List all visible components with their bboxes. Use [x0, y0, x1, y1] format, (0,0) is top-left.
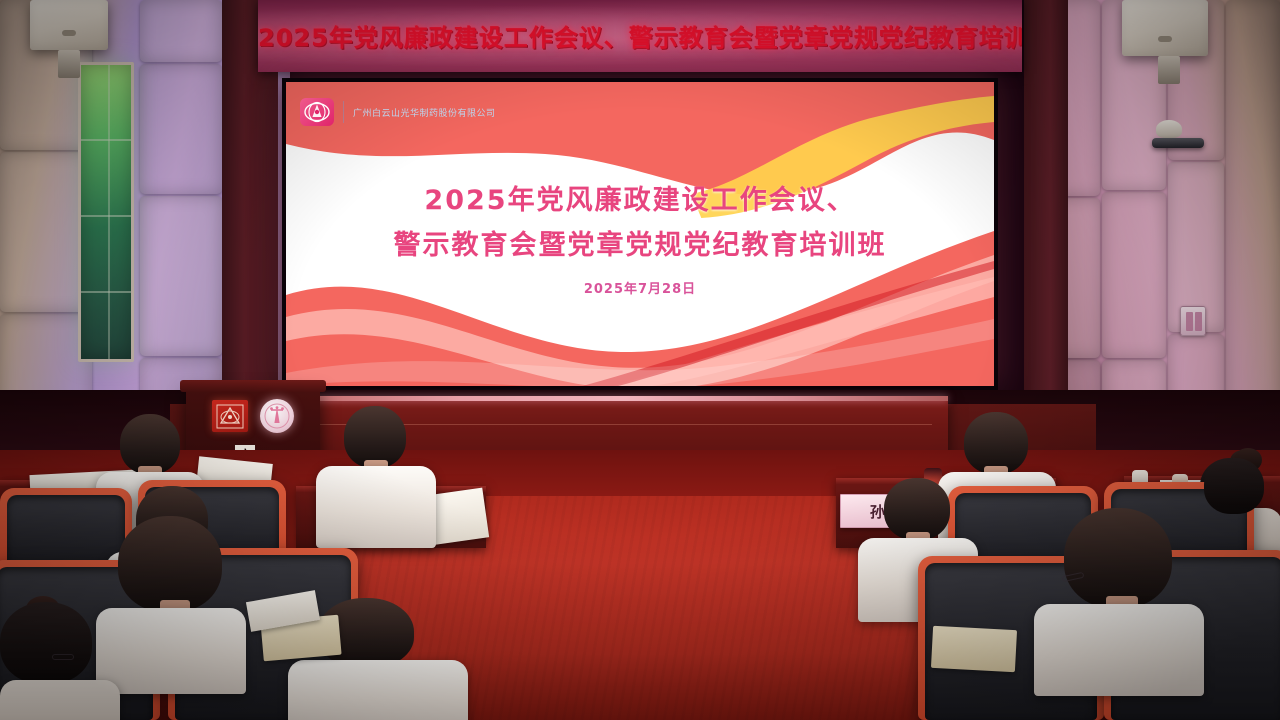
camera-mount	[1152, 138, 1204, 148]
party-emblem-icon	[260, 399, 294, 433]
speaker-mount-left	[58, 50, 80, 78]
company-name-text: 广州白云山光华制药股份有限公司	[353, 106, 496, 119]
logo-divider	[343, 101, 344, 123]
company-emblem-icon	[212, 400, 248, 432]
slide-logo-lockup: 广州白云山光华制药股份有限公司	[300, 98, 496, 126]
attendee-front-center-1	[316, 406, 436, 536]
glasses-icon	[52, 654, 74, 660]
light-switch[interactable]	[1180, 306, 1206, 336]
slide-title-line-2: 警示教育会暨党章党规党纪教育培训班	[286, 223, 994, 268]
led-banner: 2025年党风廉政建设工作会议、警示教育会暨党章党规党纪教育培训班	[258, 0, 1022, 72]
podium-top	[180, 380, 326, 392]
attendee-row3-far-left	[0, 596, 120, 720]
banner-text: 2025年党风廉政建设工作会议、警示教育会暨党章党规党纪教育培训班	[258, 18, 1022, 53]
slide-title-line-1: 2025年党风廉政建设工作会议、	[286, 178, 994, 223]
right-corner-shadow	[1024, 0, 1068, 430]
projection-screen-frame: 广州白云山光华制药股份有限公司 2025年党风廉政建设工作会议、 警示教育会暨党…	[282, 78, 998, 390]
conference-hall-photo: 2025年党风廉政建设工作会议、警示教育会暨党章党规党纪教育培训班	[0, 0, 1280, 720]
camera-body	[1156, 120, 1182, 138]
notebook	[931, 626, 1017, 672]
slide-date: 2025年7月28日	[286, 278, 994, 297]
speaker-mount-right	[1158, 56, 1180, 84]
slide-title: 2025年党风廉政建设工作会议、 警示教育会暨党章党规党纪教育培训班	[286, 178, 994, 268]
window	[78, 62, 134, 362]
stage-edge-highlight	[300, 396, 948, 401]
attendee-row3-right	[1044, 508, 1194, 678]
wall-speaker-left	[30, 0, 108, 50]
attendee-row2-far-right	[1194, 448, 1280, 556]
company-logo-icon	[300, 98, 334, 126]
presentation-slide: 广州白云山光华制药股份有限公司 2025年党风廉政建设工作会议、 警示教育会暨党…	[286, 82, 994, 386]
wall-speaker-right	[1122, 0, 1208, 56]
